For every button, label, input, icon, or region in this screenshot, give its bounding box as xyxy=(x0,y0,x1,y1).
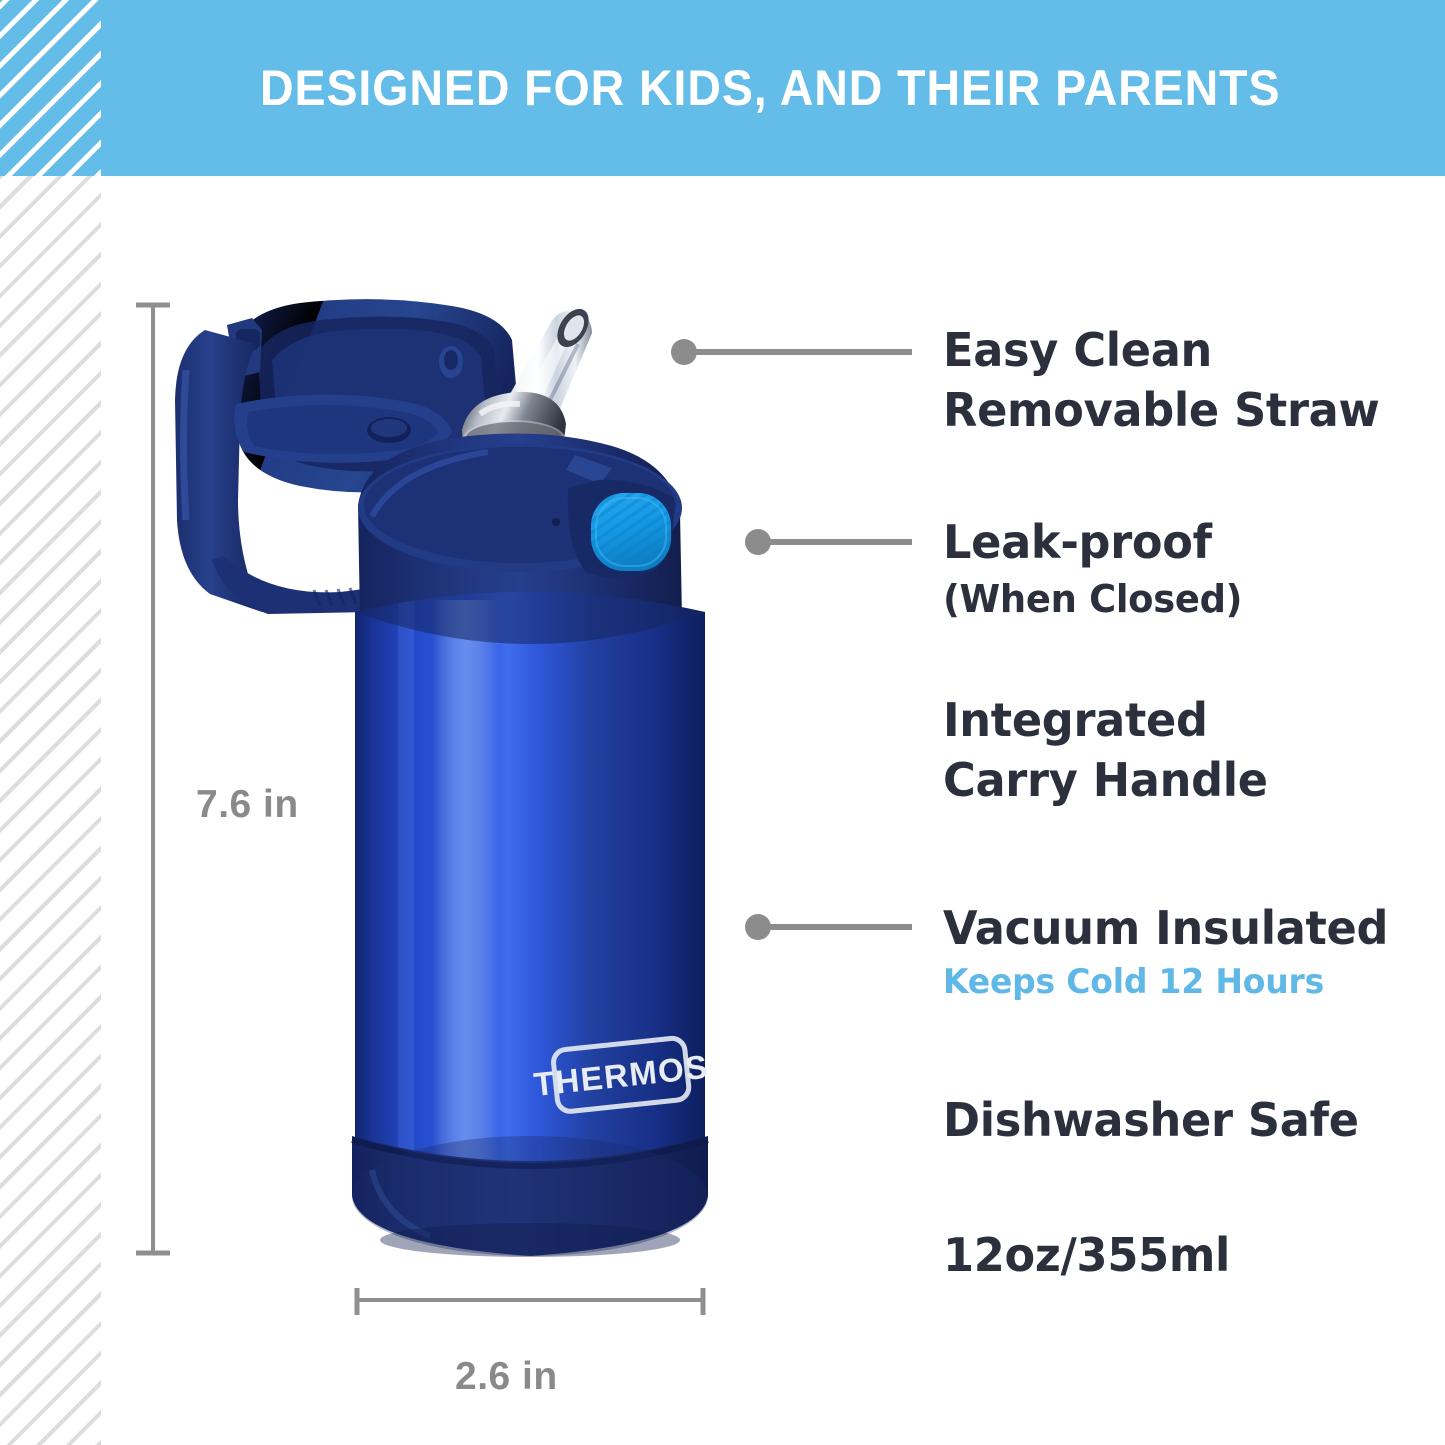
push-button-cyan xyxy=(591,493,671,571)
feature-title-line-1: Dishwasher Safe xyxy=(943,1090,1359,1150)
feature-vacuum-insulated: Vacuum Insulated Keeps Cold 12 Hours xyxy=(943,898,1402,1006)
feature-title-line-1: Integrated xyxy=(943,690,1268,750)
width-dimension-label: 2.6 in xyxy=(455,1355,558,1399)
bottle-base xyxy=(352,1136,708,1257)
product-bottle-image: THERMOS xyxy=(175,299,712,1257)
feature-title-line-2: Removable Straw xyxy=(943,380,1379,440)
height-dimension-line xyxy=(136,303,170,1255)
feature-dishwasher-safe: Dishwasher Safe xyxy=(943,1090,1372,1150)
feature-leak-proof: Leak-proof (When Closed) xyxy=(943,512,1251,626)
feature-title-line-1: 12oz/355ml xyxy=(943,1225,1230,1285)
feature-capacity: 12oz/355ml xyxy=(943,1225,1239,1285)
feature-title-line-1: Easy Clean xyxy=(943,320,1379,380)
feature-title-line-1: Vacuum Insulated xyxy=(943,898,1388,958)
feature-accent-subtitle: Keeps Cold 12 Hours xyxy=(943,958,1388,1006)
feature-easy-clean-removable-straw: Easy Clean Removable Straw xyxy=(943,320,1393,440)
bottle-body: THERMOS xyxy=(355,560,712,1200)
feature-title-line-2: Carry Handle xyxy=(943,750,1268,810)
width-dimension-line xyxy=(355,1288,705,1315)
leader-line-vacuum-insulated xyxy=(745,914,912,940)
leader-line-leak-proof xyxy=(745,529,912,555)
leader-line-easy-clean-straw xyxy=(671,339,912,365)
feature-title-line-1: Leak-proof xyxy=(943,512,1242,572)
feature-subtitle: (When Closed) xyxy=(943,572,1242,626)
feature-integrated-carry-handle: Integrated Carry Handle xyxy=(943,690,1278,810)
height-dimension-label: 7.6 in xyxy=(196,783,299,827)
